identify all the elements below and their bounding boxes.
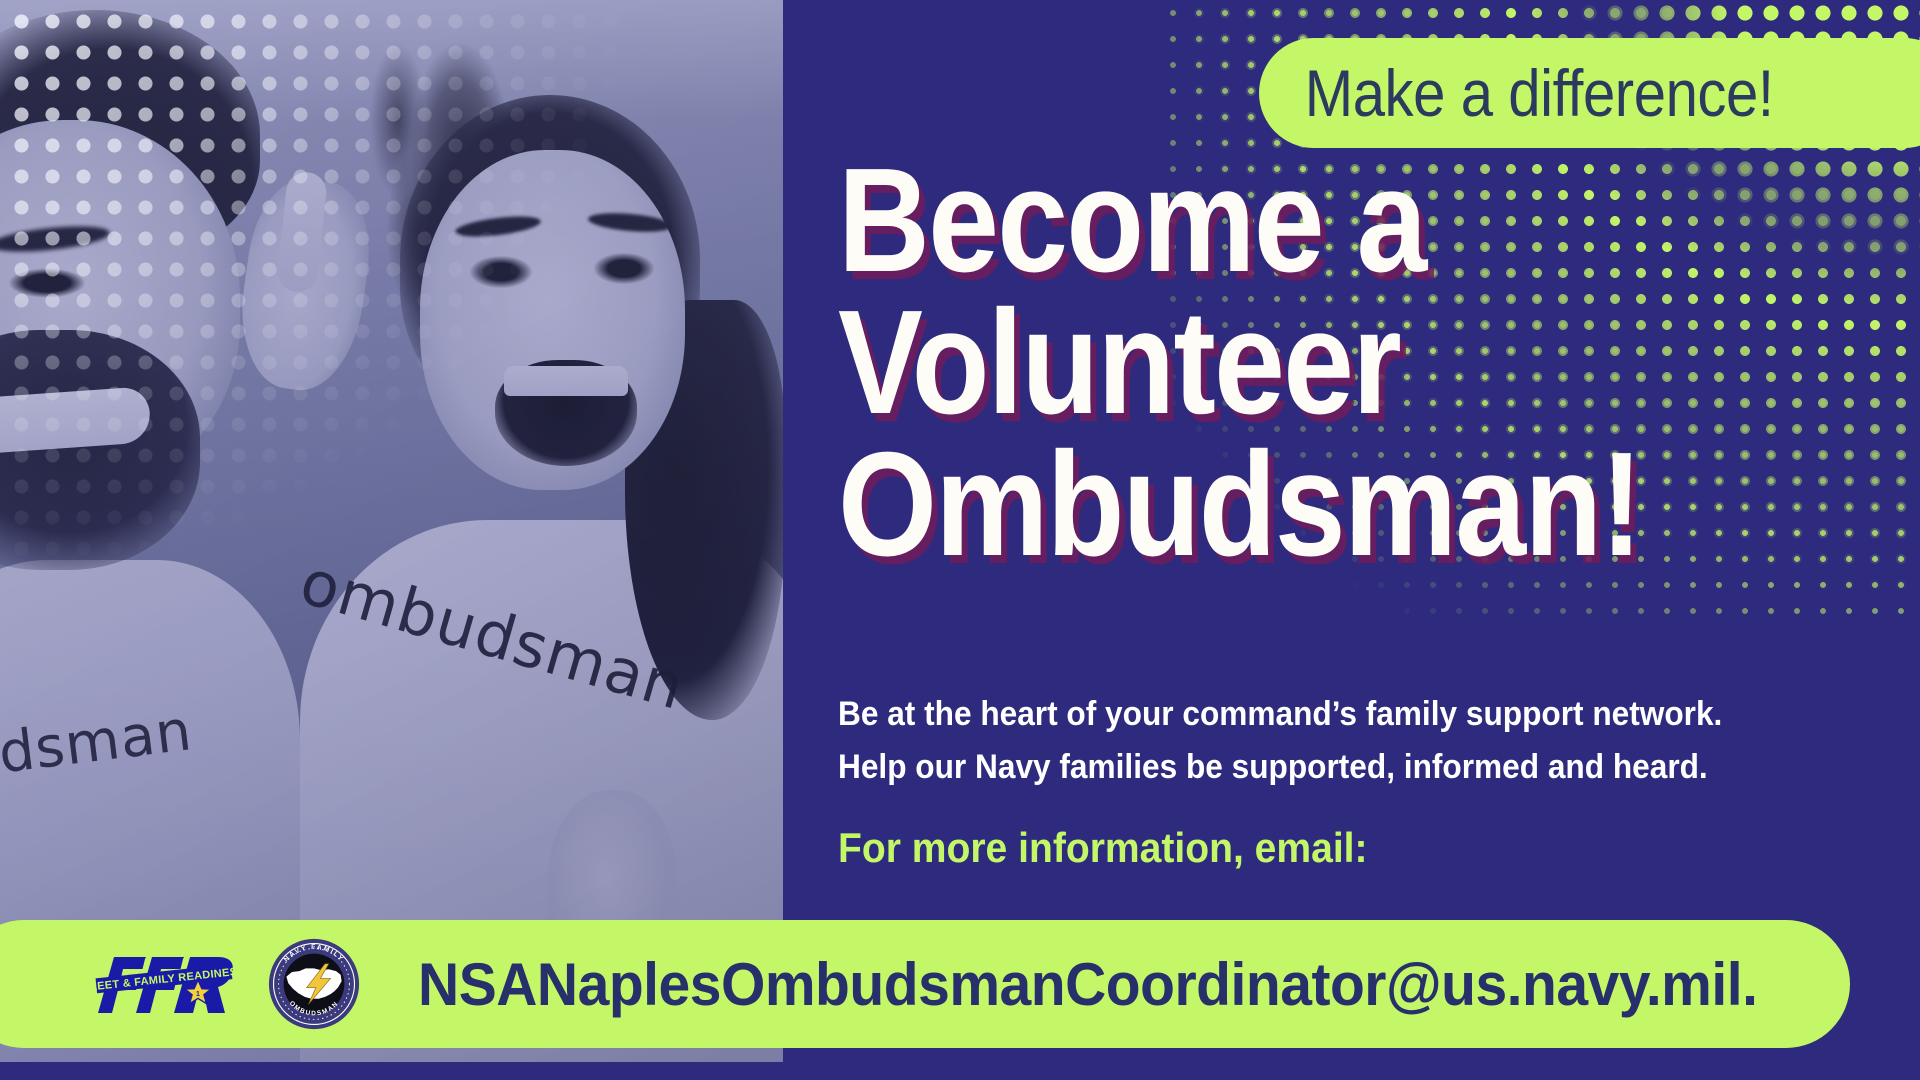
- badge-label: Make a difference!: [1259, 60, 1774, 126]
- ffr-logo: FLEET & FAMILY READINESS 1: [90, 947, 242, 1021]
- logo-group: FLEET & FAMILY READINESS 1: [90, 938, 360, 1030]
- body-copy: Be at the heart of your command’s family…: [838, 688, 1858, 874]
- photo-halftone-dots-overlay: [0, 0, 660, 620]
- photo-panel: udsman ombudsman: [0, 0, 783, 1080]
- headline-line-3: Ombudsman!: [838, 434, 1698, 576]
- navy-family-ombudsman-seal: NAVY FAMILY OMBUDSMAN: [268, 938, 360, 1030]
- body-line-2: Help our Navy families be supported, inf…: [838, 741, 1787, 794]
- svg-text:1: 1: [196, 991, 200, 998]
- make-a-difference-badge: Make a difference!: [1259, 38, 1920, 148]
- body-line-1: Be at the heart of your command’s family…: [838, 688, 1787, 741]
- email-contact-bar: FLEET & FAMILY READINESS 1: [0, 920, 1850, 1048]
- page-title: Become a Volunteer Ombudsman!: [838, 150, 1838, 576]
- ombudsman-coordinator-email[interactable]: NSANaplesOmbudsmanCoordinator@us.navy.mi…: [418, 950, 1757, 1019]
- headline-line-2: Volunteer: [838, 292, 1698, 434]
- cta-label: For more information, email:: [838, 823, 1787, 873]
- poster-canvas: udsman ombudsman Make a difference! Beco…: [0, 0, 1920, 1080]
- headline-line-1: Become a: [838, 150, 1698, 292]
- bottom-navy-strip: [0, 1062, 1920, 1080]
